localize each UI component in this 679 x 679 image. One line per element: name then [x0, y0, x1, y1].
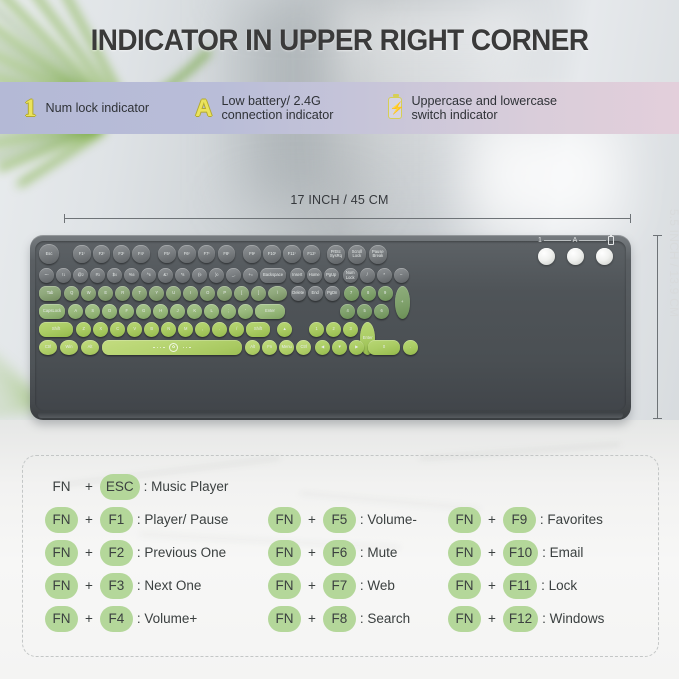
- fn-key-chip: F7: [323, 573, 356, 599]
- fn-shortcut-row: FN+F5: Volume-: [268, 503, 417, 536]
- fn-plus-sign: +: [85, 578, 93, 593]
- fn-key-chip: F12: [503, 606, 538, 632]
- fn-shortcut-row: FN+F1: Player/ Pause: [45, 503, 228, 536]
- keyboard-key: Tab: [39, 286, 61, 301]
- letter-a-icon: A: [195, 96, 212, 121]
- fn-shortcut-row: FN+F9: Favorites: [448, 503, 604, 536]
- keyboard-key: Shift: [246, 322, 270, 337]
- fn-key-chip: F11: [503, 573, 537, 599]
- fn-modifier-chip: FN: [268, 540, 301, 566]
- bolt-glyph: ⚡: [389, 101, 401, 115]
- keyboard-key: ✿: [102, 340, 242, 355]
- fn-plus-sign: +: [308, 512, 316, 527]
- fn-plus-sign: +: [85, 545, 93, 560]
- height-dimension-line: [657, 235, 658, 419]
- fn-shortcut-row: FN+F8: Search: [268, 602, 417, 635]
- keyboard-key: F3•: [113, 245, 131, 263]
- fn-shortcut-column-1: FN+ESC: Music PlayerFN+F1: Player/ Pause…: [45, 470, 228, 635]
- fn-shortcut-row: FN+F2: Previous One: [45, 536, 228, 569]
- fn-plus-sign: +: [85, 479, 93, 494]
- battery-bolt-icon: ⚡: [388, 97, 402, 119]
- fn-modifier-chip: FN: [448, 507, 481, 533]
- fn-modifier-chip: FN: [448, 606, 481, 632]
- keyboard-key: PrtScSysRq: [327, 245, 346, 264]
- fn-plus-sign: +: [488, 545, 496, 560]
- fn-action-label: : Volume-: [360, 512, 417, 527]
- led-label-divider-1: [544, 240, 571, 241]
- led-label-caps: A: [573, 237, 578, 244]
- banner-item-low-battery-line2: connection indicator: [221, 108, 333, 122]
- keyboard-key: Enter: [255, 304, 285, 319]
- banner-item-num-lock-label: Num lock indicator: [46, 101, 150, 115]
- keyboard-key: F7•: [198, 245, 216, 263]
- banner-item-case-switch-line1: Uppercase and lowercase: [411, 94, 557, 108]
- fn-shortcut-row: FN+F11: Lock: [448, 569, 604, 602]
- fn-plus-sign: +: [488, 578, 496, 593]
- led-label-num: 1: [538, 237, 542, 244]
- fn-action-label: : Mute: [360, 545, 398, 560]
- fn-action-label: : Next One: [137, 578, 202, 593]
- page-title: INDICATOR IN UPPER RIGHT CORNER: [24, 24, 655, 58]
- fn-shortcut-panel: FN+ESC: Music PlayerFN+F1: Player/ Pause…: [22, 455, 659, 657]
- fn-plus-sign: +: [488, 512, 496, 527]
- fn-shortcut-row: FN+F3: Next One: [45, 569, 228, 602]
- fn-plus-sign: +: [308, 578, 316, 593]
- fn-plus-sign: +: [85, 611, 93, 626]
- fn-key-chip: F2: [100, 540, 133, 566]
- keyboard-key: F1•: [73, 245, 91, 263]
- fn-plus-sign: +: [308, 611, 316, 626]
- fn-plus-sign: +: [488, 611, 496, 626]
- fn-key-chip: F9: [503, 507, 536, 533]
- fn-shortcut-row: FN+ESC: Music Player: [45, 470, 228, 503]
- dimension-cap-top: [653, 235, 662, 236]
- fn-shortcut-row: FN+F10: Email: [448, 536, 604, 569]
- fn-key-chip: F5: [323, 507, 356, 533]
- fn-shortcut-row: FN+F12: Windows: [448, 602, 604, 635]
- banner-item-case-switch-label: Uppercase and lowercase switch indicator: [411, 94, 557, 122]
- dimension-cap-right: [630, 214, 631, 223]
- width-dimension-line: [64, 218, 631, 219]
- fn-modifier-chip: FN: [448, 540, 481, 566]
- fn-action-label: : Windows: [542, 611, 604, 626]
- height-dimension-label: 5.5 INCH / 13.9 CM: [667, 193, 679, 333]
- keyboard-led-labels: 1 A: [538, 235, 614, 245]
- page-root: INDICATOR IN UPPER RIGHT CORNER 1 Num lo…: [0, 0, 679, 679]
- keyboard-key: F4•: [132, 245, 150, 263]
- fn-action-label: : Email: [542, 545, 583, 560]
- fn-key-chip: ESC: [100, 474, 140, 500]
- keyboard-key: F12•: [303, 245, 321, 263]
- fn-key-chip: F6: [323, 540, 356, 566]
- fn-shortcut-column-2: FN+F5: Volume-FN+F6: MuteFN+F7: WebFN+F8…: [268, 503, 417, 635]
- fn-action-label: : Lock: [541, 578, 577, 593]
- keyboard-key: F10•: [263, 245, 281, 263]
- fn-action-label: : Volume+: [137, 611, 197, 626]
- fn-action-label: : Music Player: [144, 479, 229, 494]
- keyboard-key: F8•: [218, 245, 236, 263]
- fn-shortcut-row: FN+F7: Web: [268, 569, 417, 602]
- banner-item-case-switch: ⚡ Uppercase and lowercase switch indicat…: [388, 94, 557, 122]
- dimension-cap-bottom: [653, 418, 662, 419]
- num-lock-one-icon: 1: [24, 96, 37, 121]
- fn-action-label: : Player/ Pause: [137, 512, 229, 527]
- fn-key-chip: F8: [323, 606, 356, 632]
- keyboard-key: Shift: [39, 322, 73, 337]
- indicator-banner: 1 Num lock indicator A Low battery/ 2.4G…: [0, 82, 679, 134]
- fn-key-chip: F1: [100, 507, 133, 533]
- keyboard-key: ScrollLock: [348, 245, 367, 264]
- fn-modifier-chip: FN: [45, 540, 78, 566]
- fn-modifier-chip: FN: [268, 507, 301, 533]
- fn-modifier-chip: FN: [268, 606, 301, 632]
- keyboard-led-lamps: [538, 248, 614, 266]
- width-dimension-label: 17 INCH / 45 CM: [0, 193, 679, 207]
- fn-action-label: : Favorites: [540, 512, 603, 527]
- fn-modifier-chip: FN: [268, 573, 301, 599]
- banner-item-num-lock: 1 Num lock indicator: [24, 96, 149, 121]
- led-lamp-num: [538, 248, 555, 265]
- dimension-cap-left: [64, 214, 65, 223]
- fn-key-chip: F4: [100, 606, 133, 632]
- fn-action-label: : Previous One: [137, 545, 226, 560]
- keyboard-key: F6•: [178, 245, 196, 263]
- fn-shortcut-row: FN+F6: Mute: [268, 536, 417, 569]
- keyboard-key: +: [395, 286, 410, 319]
- banner-item-low-battery-label: Low battery/ 2.4G connection indicator: [221, 94, 333, 122]
- fn-key-chip: F3: [100, 573, 133, 599]
- keyboard-key: Backspace: [260, 268, 286, 283]
- banner-item-low-battery-line1: Low battery/ 2.4G: [221, 94, 320, 108]
- keyboard-key: F9•: [243, 245, 261, 263]
- keyboard-key: F5•: [158, 245, 176, 263]
- keyboard-bottom-lip: [38, 412, 623, 418]
- keyboard-key: F11•: [283, 245, 301, 263]
- fn-shortcut-column-3: FN+F9: FavoritesFN+F10: EmailFN+F11: Loc…: [448, 503, 604, 635]
- keyboard-key: CapsLock: [39, 304, 65, 319]
- fn-shortcut-row: FN+F4: Volume+: [45, 602, 228, 635]
- fn-plus-sign: +: [85, 512, 93, 527]
- fn-modifier-chip: FN: [45, 606, 78, 632]
- led-label-divider-2: [579, 240, 606, 241]
- led-lamp-battery: [596, 248, 613, 265]
- keyboard-key: PauseBreak: [369, 245, 388, 264]
- fn-modifier-chip: FN: [45, 507, 78, 533]
- fn-plus-sign: +: [308, 545, 316, 560]
- led-label-battery-icon: [608, 236, 614, 245]
- led-lamp-caps: [567, 248, 584, 265]
- banner-item-case-switch-line2: switch indicator: [411, 108, 497, 122]
- keyboard-key: 0: [368, 340, 400, 355]
- fn-modifier-chip: FN: [45, 573, 78, 599]
- fn-action-label: : Search: [360, 611, 410, 626]
- fn-modifier-chip: FN: [45, 474, 78, 500]
- keyboard-key: Esc: [39, 244, 59, 264]
- fn-modifier-chip: FN: [448, 573, 481, 599]
- banner-item-low-battery: A Low battery/ 2.4G connection indicator: [195, 94, 333, 122]
- fn-key-chip: F10: [503, 540, 538, 566]
- fn-action-label: : Web: [360, 578, 395, 593]
- background-light-right: [470, 120, 620, 230]
- keyboard-key: F2•: [93, 245, 111, 263]
